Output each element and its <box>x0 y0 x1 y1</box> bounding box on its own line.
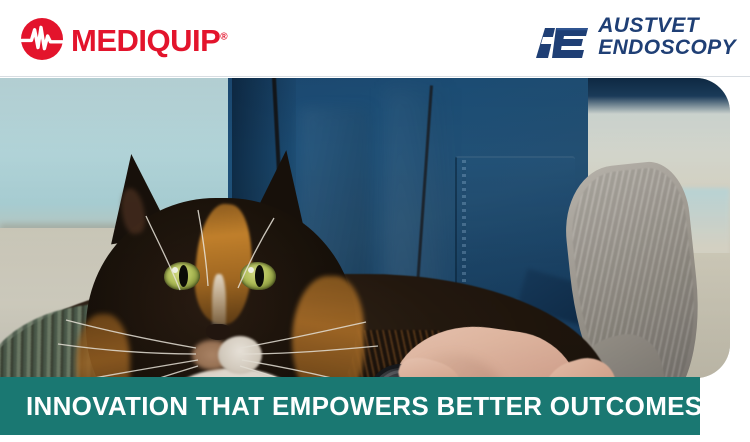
header-bar: MEDIQUIP® AUSTVET ENDOSCOPY <box>0 0 750 77</box>
hero-photo-scene <box>0 78 730 378</box>
registered-mark: ® <box>220 31 227 42</box>
ae-monogram-icon <box>528 14 590 60</box>
marketing-banner: MEDIQUIP® AUSTVET ENDOSCOPY <box>0 0 750 442</box>
austvet-line-1: AUSTVET <box>598 15 736 37</box>
photo-color-grade <box>0 78 730 378</box>
mediquip-wordmark: MEDIQUIP® <box>71 25 228 56</box>
mediquip-name: MEDIQUIP <box>71 23 220 58</box>
tagline-text: INNOVATION THAT EMPOWERS BETTER OUTCOMES <box>26 391 702 422</box>
austvet-endoscopy-logo[interactable]: AUSTVET ENDOSCOPY <box>528 12 736 62</box>
austvet-line-2: ENDOSCOPY <box>598 37 736 59</box>
tagline-banner: INNOVATION THAT EMPOWERS BETTER OUTCOMES <box>0 377 700 435</box>
mediquip-logo[interactable]: MEDIQUIP® <box>20 18 228 60</box>
austvet-wordmark: AUSTVET ENDOSCOPY <box>598 15 736 59</box>
heartbeat-circle-icon <box>20 17 64 61</box>
hero-photo <box>0 78 730 378</box>
